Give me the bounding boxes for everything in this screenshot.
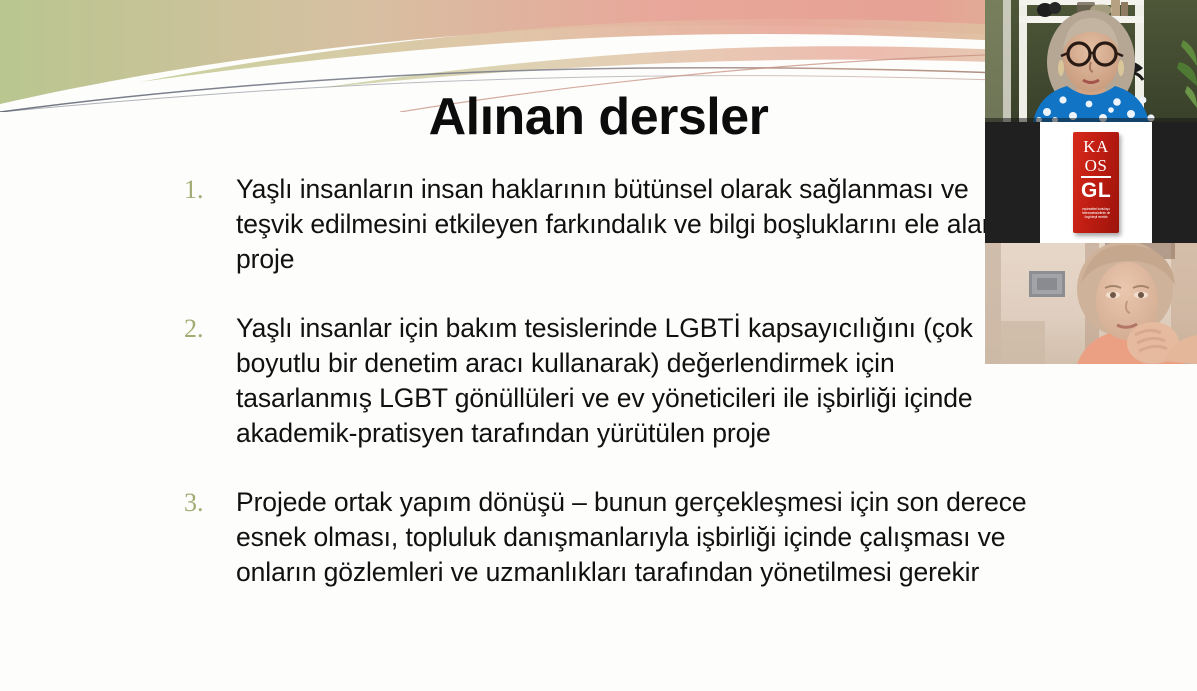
video-tile-participant-bottom[interactable]: [985, 243, 1197, 364]
kaos-logo-line-ka: KA: [1083, 137, 1109, 156]
bullet-text: Projede ortak yapım dönüşü – bunun gerçe…: [236, 485, 1029, 590]
presentation-screen: Alınan dersler 1. Yaşlı insanların insan…: [0, 0, 1197, 691]
bullet-marker: 1.: [184, 172, 236, 207]
bullet-text: Yaşlı insanların insan haklarının bütüns…: [236, 172, 1029, 277]
kaos-gl-logo: KA OS GL eşcinselleri kurtuluşu heterose…: [1073, 132, 1119, 233]
bullet-marker: 3.: [184, 485, 236, 520]
kaos-logo-line-gl: GL: [1081, 176, 1111, 202]
list-item: 3. Projede ortak yapım dönüşü – bunun ge…: [184, 485, 1029, 590]
list-item: 2. Yaşlı insanlar için bakım tesislerind…: [184, 311, 1029, 451]
bullet-list: 1. Yaşlı insanların insan haklarının büt…: [184, 172, 1029, 624]
kaos-gl-logo-slide: KA OS GL eşcinselleri kurtuluşu heterose…: [1040, 122, 1152, 243]
kaos-logo-subtitle-line-3: özgürleşti recektir: [1077, 215, 1115, 219]
video-tile-kaos-gl-logo[interactable]: KA OS GL eşcinselleri kurtuluşu heterose…: [985, 122, 1197, 243]
list-item: 1. Yaşlı insanların insan haklarının büt…: [184, 172, 1029, 277]
video-tile-participant-top[interactable]: [985, 0, 1197, 122]
bullet-marker: 2.: [184, 311, 236, 346]
video-participant-stack: KA OS GL eşcinselleri kurtuluşu heterose…: [985, 0, 1197, 364]
kaos-logo-line-os: OS: [1085, 156, 1108, 175]
kaos-logo-subtitle: eşcinselleri kurtuluşu heteroseksüelleri…: [1077, 207, 1115, 220]
bullet-text: Yaşlı insanlar için bakım tesislerinde L…: [236, 311, 1029, 451]
